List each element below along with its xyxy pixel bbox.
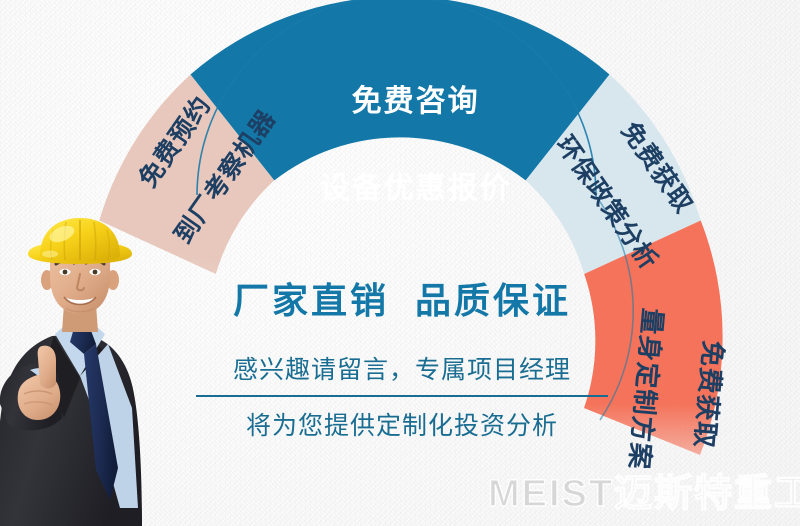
center-message: 厂家直销 品质保证 感兴趣请留言，专属项目经理 将为您提供定制化投资分析 xyxy=(196,272,608,442)
subtitle-line-1: 感兴趣请留言，专属项目经理 xyxy=(196,350,608,386)
ring-segment-consultation[interactable] xyxy=(191,0,610,180)
divider xyxy=(196,395,608,397)
banner-canvas: 免费预约 到厂考察机器 免费咨询 设备优惠报价 免费获取 环保政策分析 免费获取… xyxy=(0,0,800,526)
hard-hat xyxy=(28,218,132,264)
subtitle-line-2: 将为您提供定制化投资分析 xyxy=(196,406,608,442)
businessman-thumbs-up xyxy=(0,218,207,526)
headline: 厂家直销 品质保证 xyxy=(196,272,608,324)
